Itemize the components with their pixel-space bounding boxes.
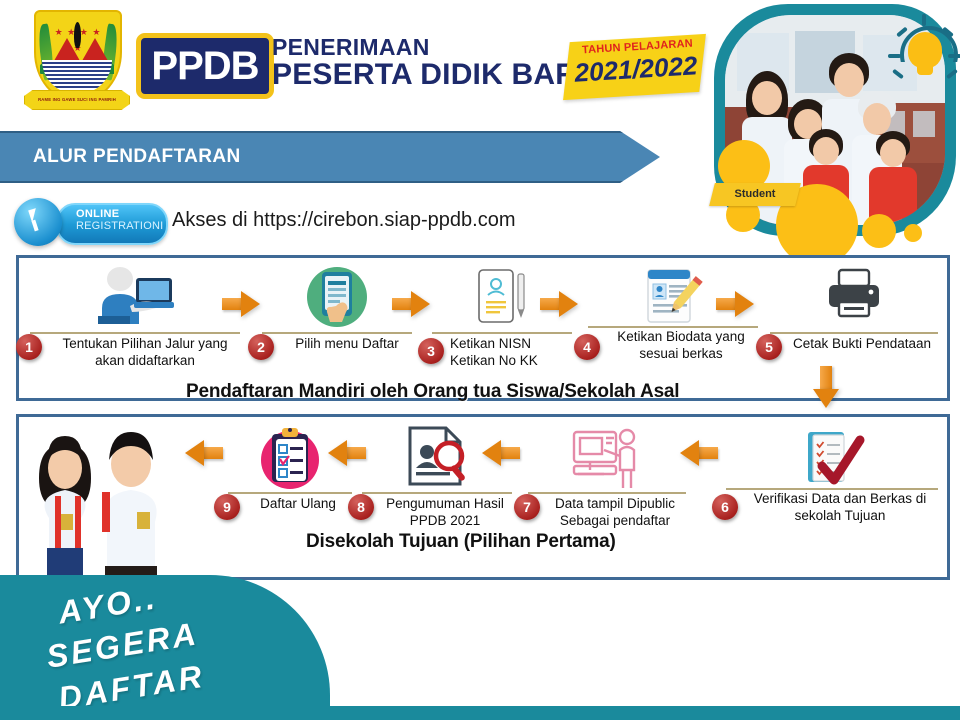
flow-step-3[interactable]: 3 Ketikan NISN Ketikan No KK [432,266,572,384]
students-duo-photo [19,418,195,600]
flow-step-7[interactable]: 7 Data tampil Dipublic Sebagai pendaftar [528,426,686,546]
step-number-badge: 5 [756,334,782,360]
id-card-pen-icon [473,266,531,328]
step-number-badge: 8 [348,494,374,520]
step-number-badge: 1 [16,334,42,360]
step-label: Tentukan Pilihan Jalur yang akan didafta… [48,335,242,369]
flow-step-4[interactable]: 4 Ketikan Biodata yang sesuai berkas [588,266,758,384]
decor-circle [862,214,896,248]
step-label: Daftar Ulang [244,495,352,512]
flow-step-6[interactable]: 6 Verifikasi Data dan Berkas di sekolah … [726,426,938,546]
poster-canvas: ★ ★ ★ ★ ★ RAME ING GAWE SUCI ING PAMRIH … [0,0,960,720]
lightbulb-icon [896,26,954,84]
flow-arrow-right [392,291,430,317]
step-label: Verifikasi Data dan Berkas di sekolah Tu… [742,490,938,524]
flow-step-2[interactable]: 2 Pilih menu Daftar [262,266,412,384]
step-label: Ketikan NISN Ketikan No KK [450,335,574,369]
step-label: Cetak Bukti Pendataan [786,335,938,352]
step-number-badge: 3 [418,338,444,364]
printer-icon [823,266,885,324]
step-number-badge: 9 [214,494,240,520]
student-tag: Student [709,183,801,206]
header-title-line1: PENERIMAAN [272,34,430,61]
flow-arrow-down [813,366,839,410]
student-tag-label: Student [712,183,798,206]
step-label: Pilih menu Daftar [280,335,414,352]
section-banner-alur-pendaftaran: ALUR PENDAFTARAN [0,131,660,183]
step-number-badge: 2 [248,334,274,360]
online-badge-line2: REGISTRATIONI [76,220,163,232]
person-presenting-computer-icon [568,426,646,492]
flow-step-5[interactable]: 5 Cetak Bukti Pendataan [770,266,938,384]
flow-row2-caption: Disekolah Tujuan (Pilihan Pertama) [306,531,616,553]
step-number-badge: 6 [712,494,738,520]
bottom-strip [0,706,960,720]
flow-arrow-left [482,440,520,466]
flow-arrow-right [716,291,754,317]
flow-step-1[interactable]: 1 Tentukan Pilihan Jalur yang akan didaf… [30,266,240,384]
header-title-line2: PESERTA DIDIK BARU [272,58,599,92]
step-number-badge: 7 [514,494,540,520]
person-at-laptop-icon [90,266,180,328]
decor-circle [904,224,922,242]
academic-year-badge: TAHUN PELAJARAN 2021/2022 [567,38,702,96]
ppdb-logo: PPDB [136,33,274,99]
step-number-badge: 4 [574,334,600,360]
clipboard-checkmark-icon [796,426,868,490]
online-registration-badge: ONLINE REGISTRATIONI [14,198,164,246]
flow-arrow-left [680,440,718,466]
online-badge-line1: ONLINE [76,208,119,220]
ppdb-logo-text: PPDB [151,44,258,89]
flow-arrow-right [222,291,260,317]
flow-arrow-left [185,440,223,466]
flow-arrow-left [328,440,366,466]
cirebon-emblem-icon: ★ ★ ★ ★ ★ RAME ING GAWE SUCI ING PAMRIH [24,6,128,112]
step-label: Pengumuman Hasil PPDB 2021 [378,495,512,529]
flow-arrow-right [540,291,578,317]
flow-row1-caption: Pendaftaran Mandiri oleh Orang tua Siswa… [186,381,679,403]
checklist-clipboard-icon [257,426,323,490]
emblem-motto: RAME ING GAWE SUCI ING PAMRIH [25,91,129,109]
document-magnifier-icon [402,426,472,488]
cta-block: AYO.. SEGERA DAFTAR [0,575,400,720]
poster-header: ★ ★ ★ ★ ★ RAME ING GAWE SUCI ING PAMRIH … [0,0,960,126]
step-label: Data tampil Dipublic Sebagai pendaftar [544,495,686,529]
step-label: Ketikan Biodata yang sesuai berkas [604,328,758,362]
access-url-text: Akses di https://cirebon.siap-ppdb.com [172,209,516,232]
form-pencil-icon [640,266,706,326]
banner-title: ALUR PENDAFTARAN [33,146,241,168]
hand-tablet-icon [306,266,368,328]
